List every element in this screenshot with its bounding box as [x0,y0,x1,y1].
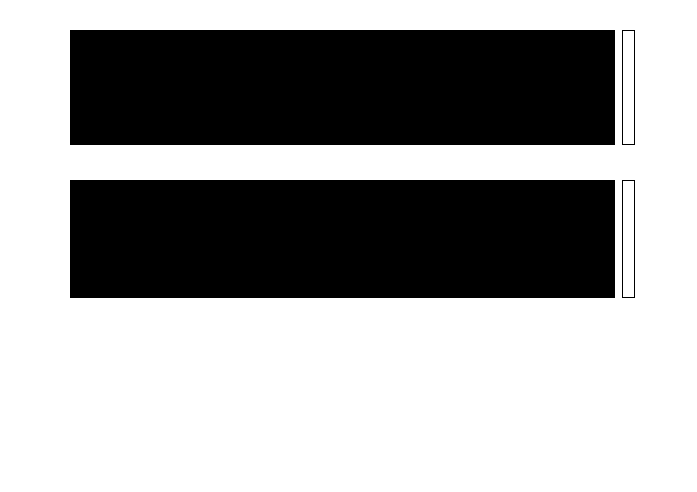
mid-x-ticks [70,299,615,321]
mid-spectrogram-canvas [71,181,614,297]
top-spectrogram-canvas [71,31,614,144]
top-colorbar [622,30,635,145]
mid-spectrogram-plot [70,180,615,298]
mid-colorbar-ticks [635,180,687,298]
top-x-ticks [70,146,615,168]
top-y-ticks [36,30,68,145]
mid-y-ticks [36,180,68,298]
mid-colorbar [622,180,635,298]
top-spectrogram-plot [70,30,615,145]
top-colorbar-ticks [635,30,677,145]
